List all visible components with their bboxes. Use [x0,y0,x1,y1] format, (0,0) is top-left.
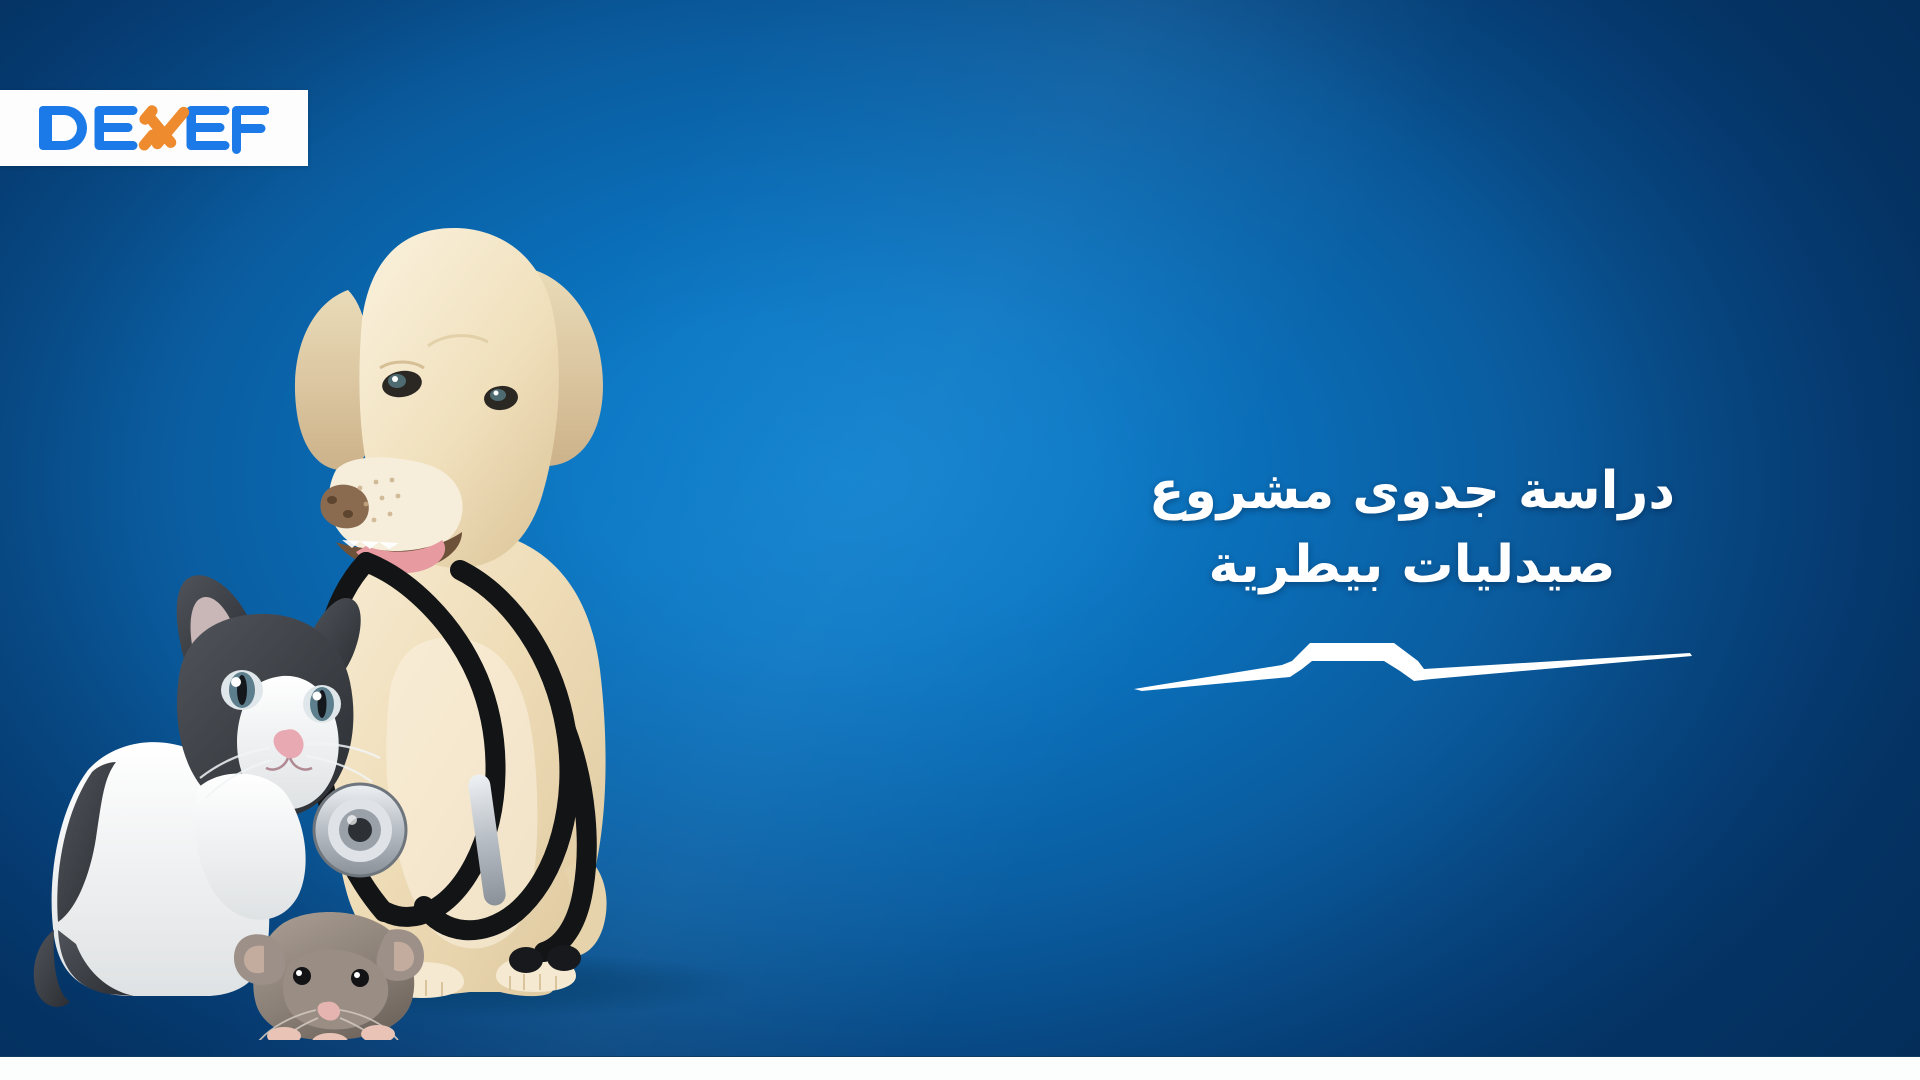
puppy-head [295,228,603,573]
headline-line-1: دراسة جدوى مشروع [1022,455,1802,529]
logo-plate[interactable] [0,90,308,166]
animal-scene-illustration [30,170,890,1040]
decorative-swoosh-icon [1132,631,1692,693]
stethoscope-chestpiece [314,784,406,876]
animal-scene [30,170,890,1040]
banner-root: دراسة جدوى مشروع صيدليات بيطرية [0,0,1920,1080]
flourish-wrap [1022,631,1802,693]
headline-line-2: صيدليات بيطرية [1022,529,1802,603]
dexef-logo-icon [39,102,269,154]
footer-bar [0,1056,1920,1080]
headline-block: دراسة جدوى مشروع صيدليات بيطرية [1022,455,1802,693]
